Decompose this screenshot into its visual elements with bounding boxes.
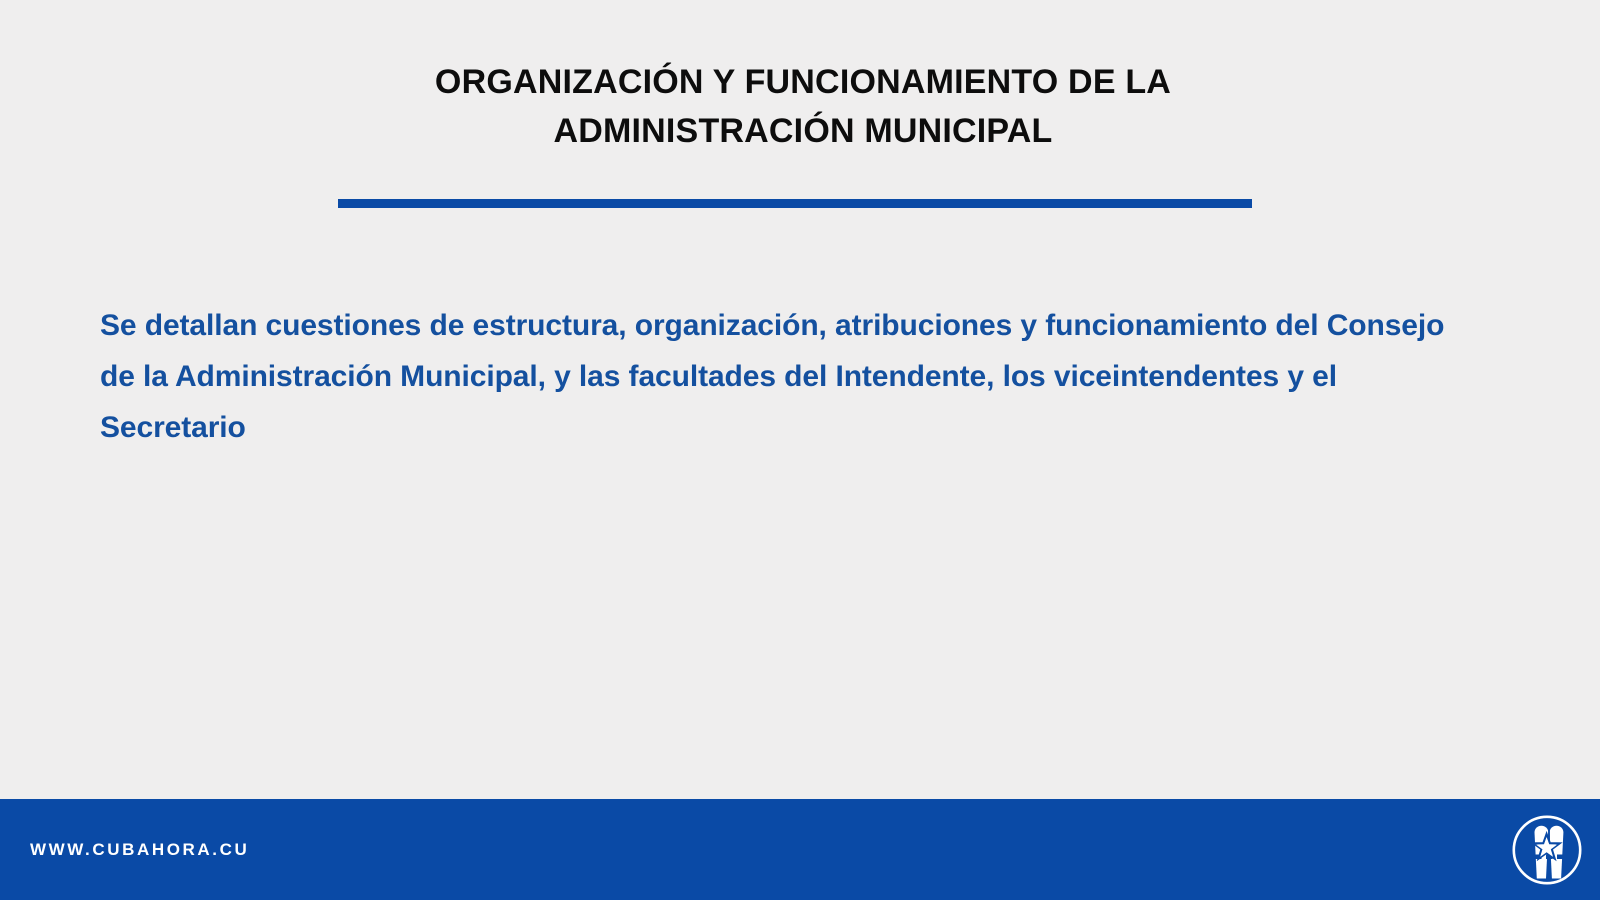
body-paragraph: Se detallan cuestiones de estructura, or… bbox=[100, 300, 1460, 453]
cubahora-logo-icon bbox=[1511, 814, 1583, 886]
title-block: ORGANIZACIÓN Y FUNCIONAMIENTO DE LA ADMI… bbox=[0, 58, 1600, 156]
body-block: Se detallan cuestiones de estructura, or… bbox=[100, 300, 1460, 453]
slide-canvas: ORGANIZACIÓN Y FUNCIONAMIENTO DE LA ADMI… bbox=[0, 0, 1600, 900]
footer-bar: WWW.CUBAHORA.CU bbox=[0, 799, 1600, 900]
page-title: ORGANIZACIÓN Y FUNCIONAMIENTO DE LA ADMI… bbox=[0, 58, 1600, 156]
title-divider-rule bbox=[338, 199, 1252, 208]
footer-website-url[interactable]: WWW.CUBAHORA.CU bbox=[30, 840, 249, 860]
